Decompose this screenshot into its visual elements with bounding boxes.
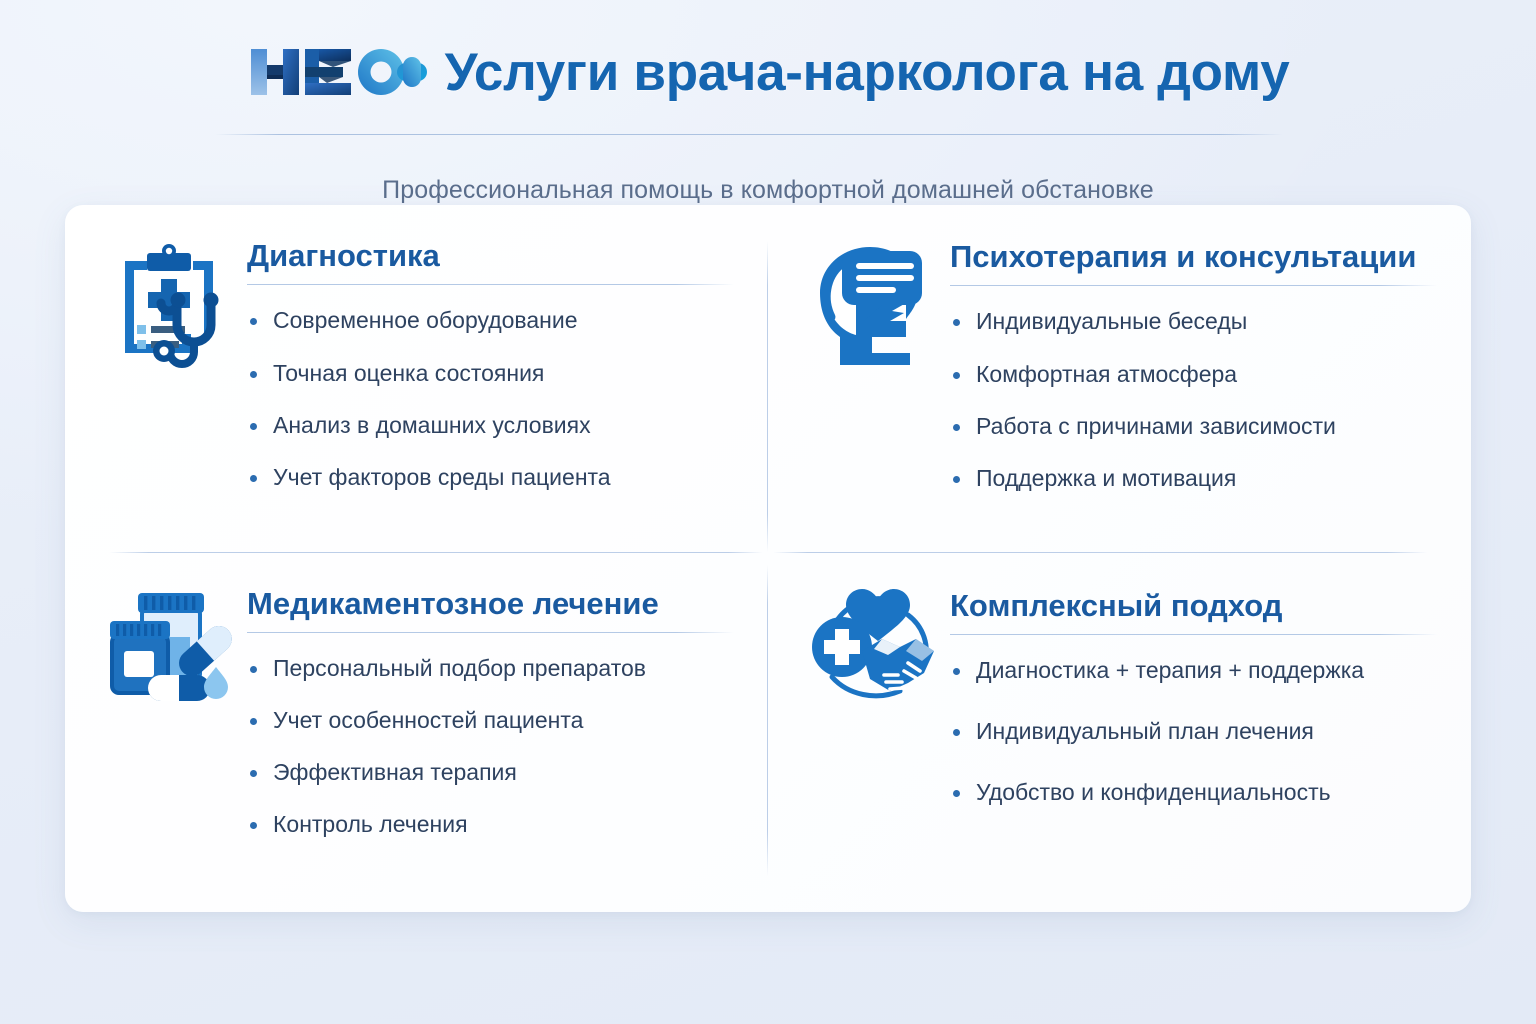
- list-item: Удобство и конфиденциальность: [950, 779, 1437, 806]
- bullet-text: Современное оборудование: [273, 307, 578, 333]
- service-card-complex-approach[interactable]: Комплексный подход Диагностика + терапия…: [768, 559, 1471, 913]
- service-card-psychotherapy[interactable]: Психотерапия и консультации Индивидуальн…: [768, 205, 1471, 559]
- bullet-text: Комфортная атмосфера: [976, 361, 1237, 387]
- card-bullet-list: Современное оборудование Точная оценка с…: [247, 307, 734, 491]
- bullet-dot-icon: [250, 718, 257, 725]
- service-card-medication[interactable]: Медикаментозное лечение Персональный под…: [65, 559, 768, 913]
- bullet-text: Учет факторов среды пациента: [273, 464, 611, 490]
- bullet-dot-icon: [250, 770, 257, 777]
- bullet-text: Индивидуальные беседы: [976, 308, 1247, 334]
- page-subtitle: Профессиональная помощь в комфортной дом…: [0, 176, 1536, 205]
- card-bullet-list: Персональный подбор препаратов Учет особ…: [247, 655, 734, 839]
- bullet-dot-icon: [953, 668, 960, 675]
- bullet-dot-icon: [250, 318, 257, 325]
- head-speech-bubble-icon: [802, 241, 942, 381]
- grid-divider-horizontal: [109, 552, 1427, 553]
- bullet-dot-icon: [250, 822, 257, 829]
- services-grid: Диагностика Современное оборудование Точ…: [65, 205, 1471, 912]
- card-heading: Комплексный подход: [950, 589, 1437, 622]
- clipboard-stethoscope-icon: [99, 241, 239, 381]
- grid-divider-vertical: [767, 241, 768, 876]
- list-item: Эффективная терапия: [247, 759, 734, 786]
- list-item: Учет особенностей пациента: [247, 707, 734, 734]
- card-body: Комплексный подход Диагностика + терапия…: [950, 583, 1437, 841]
- bullet-text: Персональный подбор препаратов: [273, 655, 646, 681]
- list-item: Комфортная атмосфера: [950, 361, 1437, 388]
- bullet-dot-icon: [250, 666, 257, 673]
- list-item: Работа с причинами зависимости: [950, 413, 1437, 440]
- list-item: Персональный подбор препаратов: [247, 655, 734, 682]
- bullet-text: Поддержка и мотивация: [976, 465, 1236, 491]
- card-bullet-list: Диагностика + терапия + поддержка Индиви…: [950, 657, 1437, 806]
- header-divider: [215, 134, 1283, 135]
- bullet-text: Удобство и конфиденциальность: [976, 779, 1331, 805]
- bullet-text: Индивидуальный план лечения: [976, 718, 1314, 744]
- pill-bottles-icon: [99, 589, 239, 729]
- card-heading-rule: [247, 632, 734, 633]
- list-item: Анализ в домашних условиях: [247, 412, 734, 439]
- bullet-text: Работа с причинами зависимости: [976, 413, 1336, 439]
- list-item: Индивидуальные беседы: [950, 308, 1437, 335]
- bullet-text: Учет особенностей пациента: [273, 707, 583, 733]
- list-item: Индивидуальный план лечения: [950, 718, 1437, 745]
- bullet-dot-icon: [953, 424, 960, 431]
- card-body: Диагностика Современное оборудование Точ…: [247, 235, 734, 491]
- card-heading-rule: [950, 634, 1437, 635]
- services-panel: Диагностика Современное оборудование Точ…: [65, 205, 1471, 912]
- page-title: Услуги врача-нарколога на дому: [445, 46, 1290, 99]
- card-heading: Диагностика: [247, 239, 734, 272]
- card-body: Психотерапия и консультации Индивидуальн…: [950, 235, 1437, 492]
- bullet-text: Диагностика + терапия + поддержка: [976, 657, 1364, 683]
- card-heading: Психотерапия и консультации: [950, 240, 1437, 273]
- bullet-text: Контроль лечения: [273, 811, 468, 837]
- neo-plus-logo: [247, 41, 427, 103]
- list-item: Учет факторов среды пациента: [247, 464, 734, 491]
- infographic-page: Услуги врача-нарколога на дому Профессио…: [0, 0, 1536, 1024]
- bullet-dot-icon: [250, 475, 257, 482]
- list-item: Поддержка и мотивация: [950, 465, 1437, 492]
- card-heading: Медикаментозное лечение: [247, 587, 734, 620]
- bullet-dot-icon: [953, 790, 960, 797]
- list-item: Диагностика + терапия + поддержка: [950, 657, 1437, 684]
- list-item: Точная оценка состояния: [247, 360, 734, 387]
- bullet-text: Эффективная терапия: [273, 759, 517, 785]
- card-bullet-list: Индивидуальные беседы Комфортная атмосфе…: [950, 308, 1437, 492]
- list-item: Современное оборудование: [247, 307, 734, 334]
- service-card-diagnostics[interactable]: Диагностика Современное оборудование Точ…: [65, 205, 768, 559]
- bullet-text: Точная оценка состояния: [273, 360, 544, 386]
- card-heading-rule: [950, 285, 1437, 286]
- list-item: Контроль лечения: [247, 811, 734, 838]
- heart-handshake-cross-icon: [802, 585, 942, 725]
- bullet-dot-icon: [250, 423, 257, 430]
- bullet-dot-icon: [953, 476, 960, 483]
- card-body: Медикаментозное лечение Персональный под…: [247, 583, 734, 839]
- bullet-dot-icon: [953, 372, 960, 379]
- bullet-dot-icon: [250, 371, 257, 378]
- bullet-dot-icon: [953, 319, 960, 326]
- bullet-text: Анализ в домашних условиях: [273, 412, 591, 438]
- page-header: Услуги врача-нарколога на дому Профессио…: [0, 34, 1536, 110]
- bullet-dot-icon: [953, 729, 960, 736]
- card-heading-rule: [247, 284, 734, 285]
